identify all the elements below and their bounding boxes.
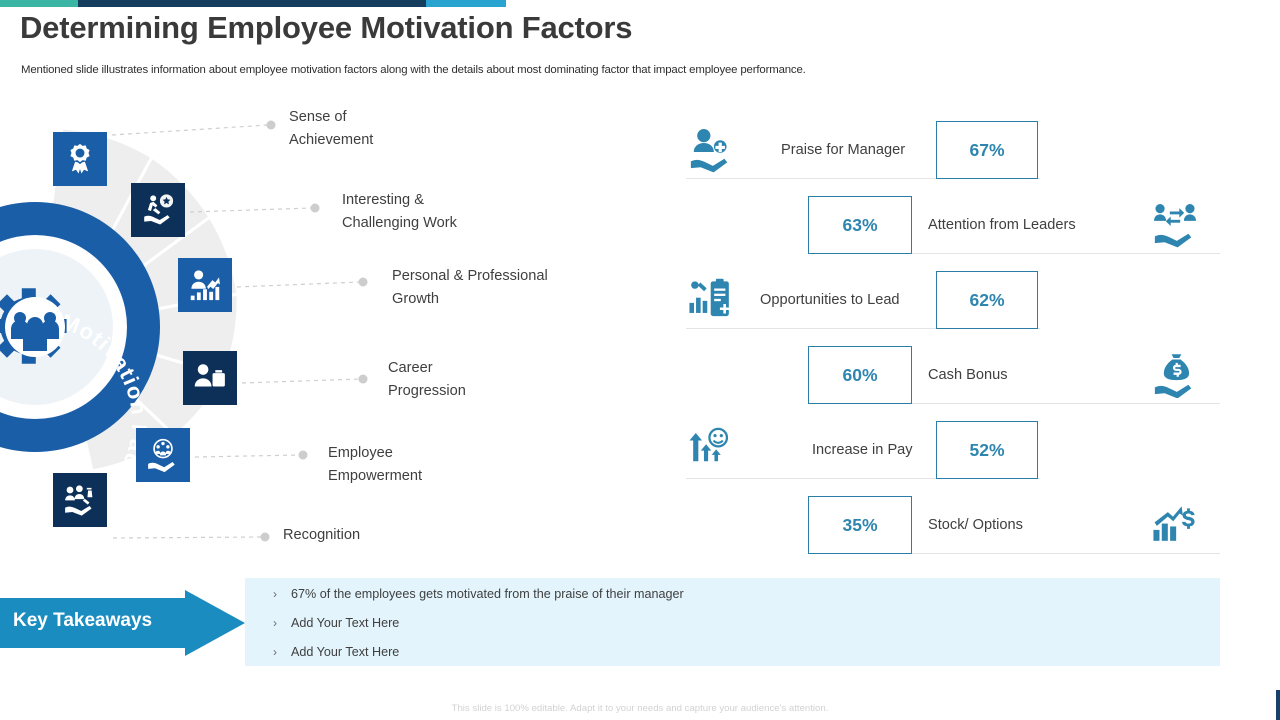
key-takeaway-text-2[interactable]: Add Your Text Here — [291, 616, 399, 630]
bar-label-3: Opportunities to Lead — [760, 292, 900, 308]
bar-pct-box-4: 60% — [808, 346, 912, 404]
bar-row-opportunities-to-lead[interactable]: Opportunities to Lead 62% — [686, 271, 1040, 329]
key-takeaways-panel: › 67% of the employees gets motivated fr… — [245, 578, 1220, 666]
bar-pct-box-1: 67% — [936, 121, 1038, 179]
bar-pct-box-5: 52% — [936, 421, 1038, 479]
bar-label-1: Praise for Manager — [781, 142, 905, 158]
bar-label-6: Stock/ Options — [928, 517, 1023, 533]
hand-team-icon — [146, 438, 180, 472]
bar-pct-box-3: 62% — [936, 271, 1038, 329]
key-takeaway-text-1: 67% of the employees gets motivated from… — [291, 587, 684, 601]
factor-icon-box-3[interactable] — [178, 258, 232, 312]
bar-pct-6: 35% — [842, 515, 877, 536]
factor-icon-box-6[interactable] — [53, 473, 107, 527]
bar-label-5: Increase in Pay — [812, 442, 913, 458]
bar-label-4: Cash Bonus — [928, 367, 1008, 383]
key-takeaway-item-1: › 67% of the employees gets motivated fr… — [273, 587, 684, 616]
factor-label-3: Personal & Professional Growth — [392, 265, 548, 311]
accent-segment-blue — [426, 0, 506, 7]
bar-chart-dollar-icon — [1152, 502, 1198, 548]
clipboard-chart-icon — [688, 277, 734, 323]
factor-label-4-line2: Progression — [388, 380, 466, 403]
factor-label-2-line2: Challenging Work — [342, 212, 457, 235]
key-takeaways-heading: Key Takeaways — [13, 610, 152, 632]
bar-row-stock-options[interactable]: Stock/ Options 35% — [686, 496, 1220, 554]
key-takeaways-list: › 67% of the employees gets motivated fr… — [273, 587, 684, 674]
bar-icon-2 — [1152, 202, 1198, 248]
bar-pct-box-6: 35% — [808, 496, 912, 554]
motivation-bar-chart: Praise for Manager 67% — [686, 112, 1246, 562]
factor-label-5-line1: Employee — [328, 442, 422, 465]
bar-pct-3: 62% — [969, 290, 1004, 311]
accent-segment-navy — [78, 0, 426, 7]
bar-icon-5 — [688, 427, 734, 473]
key-takeaway-item-2: › Add Your Text Here — [273, 616, 684, 645]
person-briefcase-icon — [193, 361, 227, 395]
factor-label-2: Interesting & Challenging Work — [342, 189, 457, 235]
person-growth-chart-icon — [188, 268, 222, 302]
bar-icon-1 — [688, 127, 734, 173]
chevron-right-icon-1: › — [273, 587, 291, 601]
hand-people-money-icon — [63, 483, 97, 517]
bar-row-cash-bonus[interactable]: Cash Bonus 60% — [686, 346, 1220, 404]
factor-label-5-line2: Empowerment — [328, 465, 422, 488]
factor-label-2-line1: Interesting & — [342, 189, 457, 212]
factor-icon-box-5[interactable] — [136, 428, 190, 482]
bar-label-2: Attention from Leaders — [928, 217, 1076, 233]
slide-root: Determining Employee Motivation Factors … — [0, 0, 1280, 720]
factor-label-6: Recognition — [283, 524, 360, 547]
motivation-factors-diagram: Motivation Factors — [0, 95, 640, 565]
factor-label-4-line1: Career — [388, 357, 466, 380]
bar-pct-5: 52% — [969, 440, 1004, 461]
factor-label-1-line1: Sense of — [289, 106, 373, 129]
bar-pct-4: 60% — [842, 365, 877, 386]
bar-icon-4 — [1152, 352, 1198, 398]
top-accent-bar — [0, 0, 506, 7]
factor-icon-box-1[interactable] — [53, 132, 107, 186]
chevron-right-icon-3: › — [273, 645, 291, 659]
bar-icon-6 — [1152, 502, 1198, 548]
accent-segment-teal — [0, 0, 78, 7]
bar-row-increase-in-pay[interactable]: Increase in Pay 52% — [686, 421, 1040, 479]
factor-label-4: Career Progression — [388, 357, 466, 403]
factor-label-5: Employee Empowerment — [328, 442, 422, 488]
page-title: Determining Employee Motivation Factors — [20, 10, 632, 46]
page-subtitle: Mentioned slide illustrates information … — [21, 64, 806, 76]
factor-icon-box-4[interactable] — [183, 351, 237, 405]
key-takeaway-text-3[interactable]: Add Your Text Here — [291, 645, 399, 659]
bar-row-praise-for-manager[interactable]: Praise for Manager 67% — [686, 121, 1040, 179]
money-bag-hand-icon — [1152, 352, 1198, 398]
factor-label-3-line2: Growth — [392, 288, 548, 311]
bar-pct-1: 67% — [969, 140, 1004, 161]
corner-accent-mark — [1276, 690, 1280, 720]
footer-note: This slide is 100% editable. Adapt it to… — [0, 703, 1280, 714]
bar-icon-3 — [688, 277, 734, 323]
bar-pct-2: 63% — [842, 215, 877, 236]
person-star-hand-icon — [141, 193, 175, 227]
bar-pct-box-2: 63% — [808, 196, 912, 254]
person-hand-plus-icon — [688, 127, 734, 173]
key-takeaway-item-3: › Add Your Text Here — [273, 645, 684, 674]
factor-label-1: Sense of Achievement — [289, 106, 373, 152]
chevron-right-icon-2: › — [273, 616, 291, 630]
factor-icon-box-2[interactable] — [131, 183, 185, 237]
bar-row-attention-from-leaders[interactable]: Attention from Leaders 63% — [686, 196, 1220, 254]
award-ribbon-icon — [63, 142, 97, 176]
factor-label-3-line1: Personal & Professional — [392, 265, 548, 288]
two-people-exchange-icon — [1152, 202, 1198, 248]
arrows-up-smiley-icon — [688, 427, 734, 473]
factor-label-6-line1: Recognition — [283, 524, 360, 547]
factor-label-1-line2: Achievement — [289, 129, 373, 152]
